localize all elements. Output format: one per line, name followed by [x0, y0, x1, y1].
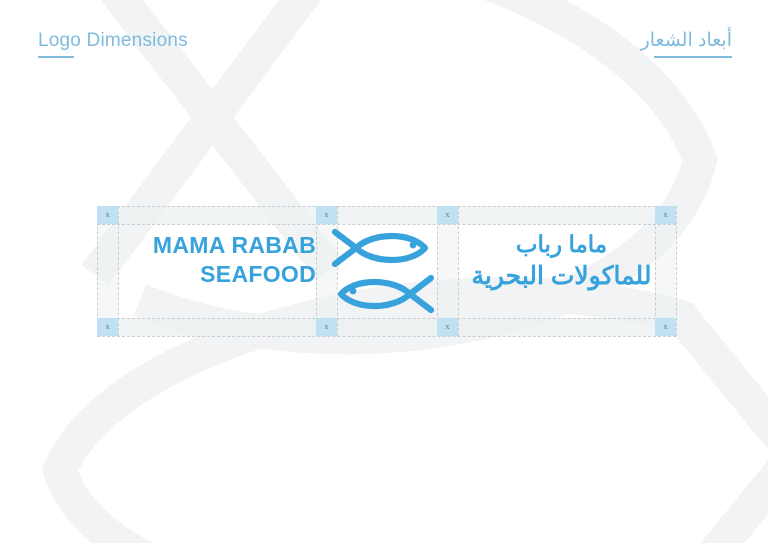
logo-wordmark-ar-line2: للماكولات البحرية — [449, 260, 674, 293]
guide-line-vertical-1 — [97, 206, 98, 336]
clearspace-x-marker: x — [316, 206, 337, 224]
logo-wordmark-ar-line1: ماما رباب — [516, 231, 607, 257]
two-fish-icon — [325, 224, 441, 320]
logo-wordmark-ar: ماما رباب للماكولات البحرية — [449, 230, 674, 292]
logo-wordmark-en: MAMA RABAB SEAFOOD — [111, 231, 316, 290]
clearspace-band-top — [97, 206, 676, 224]
clearspace-x-marker: x — [97, 318, 118, 336]
clearspace-band-bottom — [97, 318, 676, 336]
guide-line-horizontal-4 — [97, 336, 676, 337]
page-title-en: Logo Dimensions — [38, 30, 188, 53]
guide-line-vertical-2 — [316, 206, 317, 336]
page-title-ar-underline — [654, 56, 732, 58]
page-title-en-underline — [38, 56, 74, 58]
guide-line-horizontal-1 — [97, 206, 676, 207]
guide-line-vertical-7 — [676, 206, 677, 336]
clearspace-x-marker: x — [655, 206, 676, 224]
page-title-ar: أبعاد الشعار — [641, 30, 732, 53]
logo-wordmark-en-line2: SEAFOOD — [111, 260, 316, 289]
logo-clearspace-diagram: x x x x x x x x MAMA RABAB SEAFOOD ماما … — [97, 206, 676, 336]
clearspace-x-marker: x — [97, 206, 118, 224]
logo-wordmark-en-line1: MAMA RABAB — [153, 232, 316, 258]
clearspace-x-marker: x — [437, 206, 458, 224]
clearspace-x-marker: x — [316, 318, 337, 336]
clearspace-x-marker: x — [437, 318, 458, 336]
clearspace-x-marker: x — [655, 318, 676, 336]
